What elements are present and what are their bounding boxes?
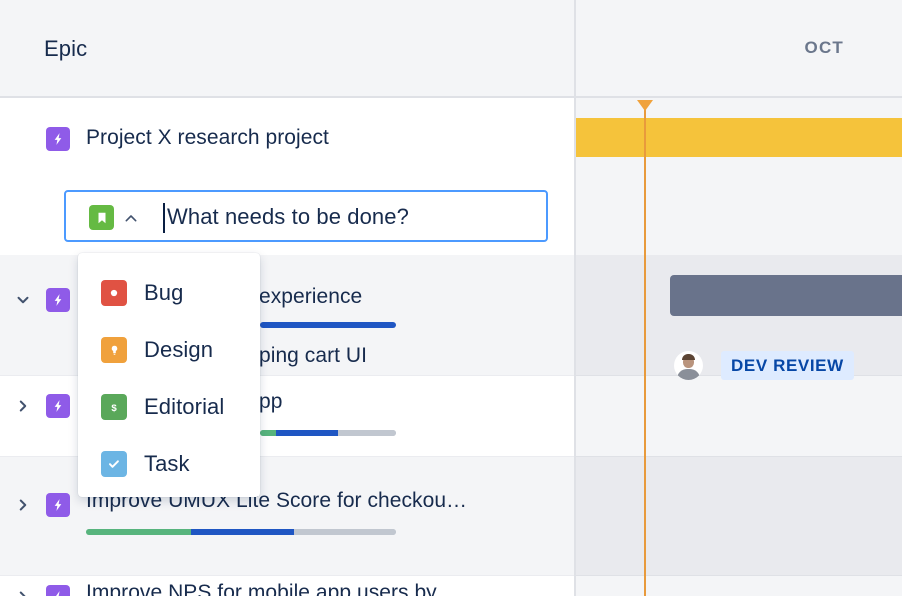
progress-bar <box>86 529 396 535</box>
epic-title: Improve NPS for mobile app users by <box>86 581 437 596</box>
dropdown-item-label: Task <box>144 451 190 477</box>
create-issue-input[interactable]: What needs to be done? <box>167 204 409 230</box>
issue-type-dropdown: Bug Design $ Editorial Task <box>78 253 260 497</box>
timeline-row <box>574 576 902 596</box>
table-row[interactable]: Project X research project <box>0 100 574 178</box>
timeline-row <box>574 376 902 456</box>
chevron-down-icon[interactable] <box>14 291 32 309</box>
design-icon <box>101 337 127 363</box>
epic-icon <box>46 394 70 418</box>
dropdown-item-task[interactable]: Task <box>78 442 260 486</box>
progress-bar <box>260 322 396 328</box>
epic-icon <box>46 493 70 517</box>
timeline-row <box>574 100 902 178</box>
dropdown-item-design[interactable]: Design <box>78 328 260 372</box>
epic-title: Project X research project <box>86 126 329 150</box>
epic-icon <box>46 288 70 312</box>
table-row[interactable]: Improve NPS for mobile app users by <box>0 576 574 596</box>
bug-icon <box>101 280 127 306</box>
task-check-icon <box>101 451 127 477</box>
progress-bar <box>260 430 396 436</box>
chevron-right-icon[interactable] <box>14 397 32 415</box>
epic-title: pp <box>259 390 282 414</box>
avatar[interactable] <box>674 351 703 380</box>
status-badge: DEV REVIEW <box>721 351 854 380</box>
status-badge-label: DEV REVIEW <box>731 356 844 376</box>
today-line <box>644 100 646 596</box>
timeline-row <box>574 457 902 575</box>
timeline-bar-epic[interactable] <box>574 118 902 157</box>
dropdown-item-label: Editorial <box>144 394 224 420</box>
today-marker-icon <box>637 100 653 111</box>
dropdown-item-editorial[interactable]: $ Editorial <box>78 385 260 429</box>
editorial-icon: $ <box>101 394 127 420</box>
text-caret <box>163 203 165 233</box>
panel-divider[interactable] <box>574 0 576 596</box>
dropdown-item-label: Design <box>144 337 213 363</box>
epic-title: experience <box>259 285 362 309</box>
chevron-right-icon[interactable] <box>14 588 32 596</box>
timeline-rows <box>574 100 902 596</box>
create-issue-input-container[interactable]: What needs to be done? <box>64 190 548 242</box>
chevron-right-icon[interactable] <box>14 496 32 514</box>
child-issue-title: ping cart UI <box>259 344 367 368</box>
jira-timeline-screen: Epic Project X research project experien… <box>0 0 902 596</box>
chevron-up-icon[interactable] <box>122 210 140 226</box>
dropdown-item-bug[interactable]: Bug <box>78 271 260 315</box>
epic-column-header: Epic <box>0 0 574 98</box>
story-bookmark-icon[interactable] <box>89 205 114 230</box>
svg-text:$: $ <box>111 403 117 414</box>
timeline-header: OCT <box>574 0 902 98</box>
timeline-bar-child[interactable] <box>670 275 902 316</box>
timeline-panel: OCT <box>574 0 902 596</box>
page-title: Epic <box>44 36 87 62</box>
epic-icon <box>46 127 70 151</box>
month-label: OCT <box>805 38 844 58</box>
dropdown-item-label: Bug <box>144 280 183 306</box>
epic-icon <box>46 585 70 596</box>
